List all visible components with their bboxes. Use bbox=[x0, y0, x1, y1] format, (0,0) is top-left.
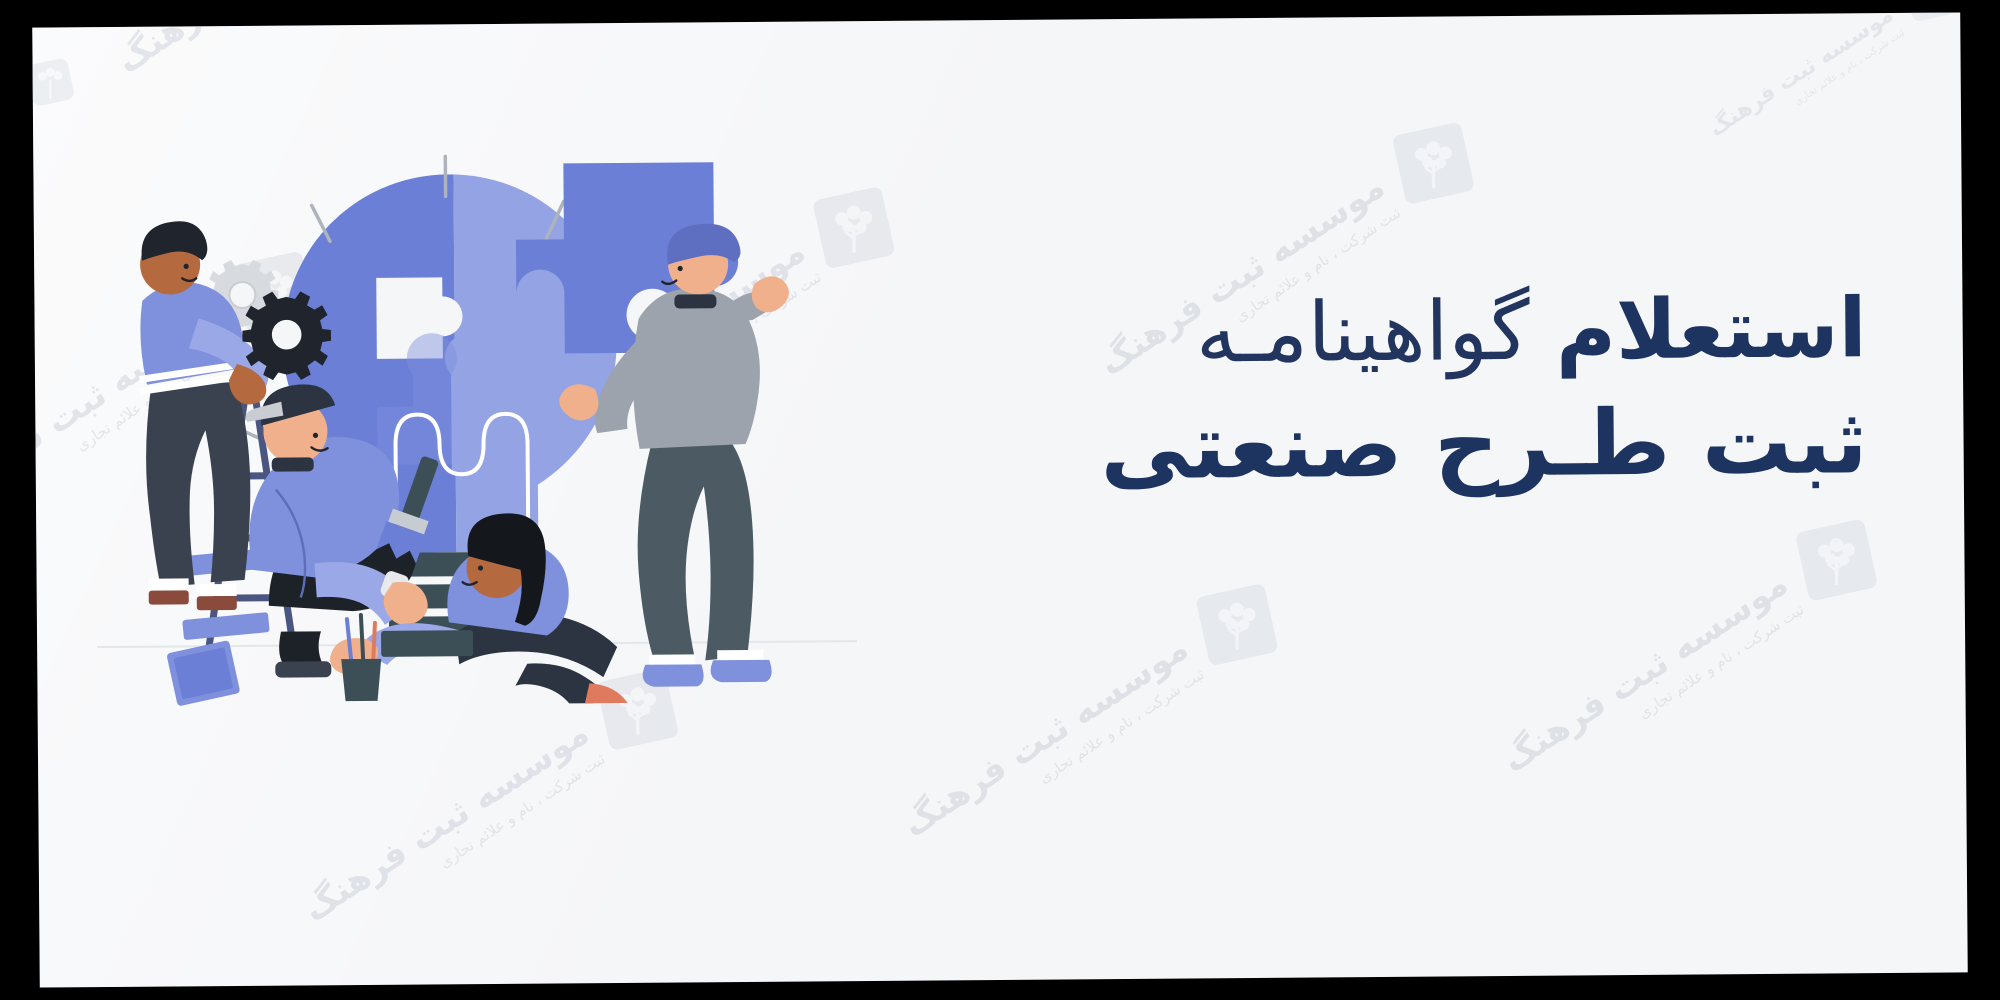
watermark-main-text: موسسه ثبت فرهنگ bbox=[298, 715, 596, 930]
headline-line2-bold: ثبت طـرح صنعتی bbox=[1100, 389, 1868, 500]
ladder-step-2 bbox=[182, 612, 270, 640]
watermark-main-text: موسسه ثبت فرهنگ bbox=[897, 630, 1195, 845]
watermark-sub-text: ثبت شرکت ، نام و علائم تجاری bbox=[1792, 27, 1906, 108]
watermark-main-text: موسسه ثبت فرهنگ bbox=[1705, 12, 1898, 142]
watermark-tile: موسسه ثبت فرهنگ ثبت شرکت ، نام و علائم ت… bbox=[684, 12, 1087, 34]
headline-block: استعلام گواهینامـه ثبت طـرح صنعتی bbox=[1099, 281, 1868, 501]
watermark-tile-small: موسسه ثبت فرهنگ ثبت شرکت ، نام و علائم ت… bbox=[1701, 12, 1967, 161]
tree-logo-icon bbox=[1392, 122, 1475, 205]
headline-line1-light: گواهینامـه bbox=[1196, 284, 1531, 382]
held-block bbox=[381, 630, 473, 657]
watermark-sub-text: ثبت شرکت ، نام و علائم تجاری bbox=[249, 12, 421, 23]
tree-logo-icon bbox=[1196, 583, 1279, 666]
tree-logo-icon bbox=[32, 55, 78, 109]
watermark-sub-text: ثبت شرکت ، نام و علائم تجاری bbox=[1035, 665, 1207, 787]
hero-illustration bbox=[93, 141, 857, 707]
watermark-tile: موسسه ثبت فرهنگ ثبت شرکت ، نام و علائم ت… bbox=[891, 568, 1294, 873]
watermark-sub-text: ثبت شرکت ، نام و علائم تجاری bbox=[436, 749, 608, 871]
watermark-tile: موسسه ثبت فرهنگ ثبت شرکت ، نام و علائم ت… bbox=[1490, 503, 1893, 808]
headline-line-1: استعلام گواهینامـه bbox=[1099, 281, 1867, 382]
banner-stage: موسسه ثبت فرهنگ ثبت شرکت ، نام و علائم ت… bbox=[0, 0, 2000, 1000]
tree-logo-icon bbox=[1795, 519, 1878, 602]
banner-card: موسسه ثبت فرهنگ ثبت شرکت ، نام و علائم ت… bbox=[32, 12, 1967, 987]
watermark-main-text: موسسه ثبت فرهنگ bbox=[1496, 565, 1794, 780]
headline-line-2: ثبت طـرح صنعتی bbox=[1100, 390, 1868, 500]
watermark-tile-small: موسسه ثبت فرهنگ ثبت شرکت ، نام و علائم ت… bbox=[32, 45, 88, 246]
watermark-sub-text: ثبت شرکت ، نام و علائم تجاری bbox=[1635, 600, 1807, 722]
watermark-tile: موسسه ثبت فرهنگ ثبت شرکت ، نام و علائم ت… bbox=[105, 12, 508, 108]
tree-logo-icon bbox=[1903, 12, 1957, 24]
headline-line1-bold: استعلام bbox=[1555, 281, 1867, 378]
tablet-device bbox=[166, 640, 240, 707]
watermark-main-text: موسسه ثبت فرهنگ bbox=[111, 12, 409, 81]
